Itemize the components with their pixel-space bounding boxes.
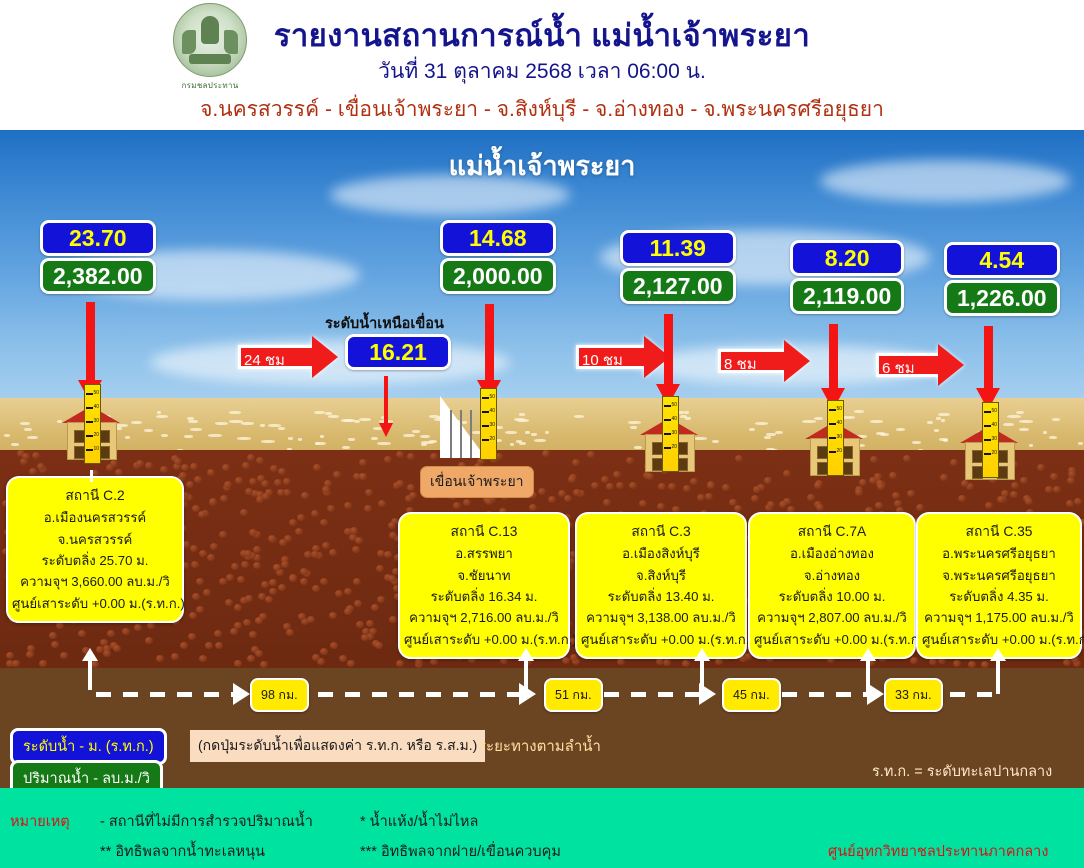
upstream-level-label: ระดับน้ำเหนือเขื่อน: [325, 312, 444, 335]
station-datum: ศูนย์เสาระดับ +0.00 ม.(ร.ท.ก.): [404, 629, 564, 650]
station-district: อ.เมืองนครสวรรค์: [12, 507, 178, 528]
water-level-value[interactable]: 11.39: [620, 230, 736, 266]
water-volume-value[interactable]: 2,119.00: [790, 278, 904, 314]
level-pointer-arrow: [829, 324, 838, 390]
report-footer: หมายเหตุ - สถานีที่ไม่มีการสำรวจปริมาณน้…: [0, 788, 1084, 868]
station-capacity: ความจุฯ 1,175.00 ลบ.ม./วิ: [922, 607, 1076, 628]
distance-along-river-label: ระยะทางตามลำน้ำ: [478, 734, 601, 758]
dam-name-label[interactable]: เขื่อนเจ้าพระยา: [420, 466, 534, 498]
level-pointer-arrow: [984, 326, 993, 390]
station-values-c3: 11.39 2,127.00: [620, 230, 736, 304]
distance-tick-c7a: [866, 660, 870, 694]
staff-gauge-icon-c2: 5040 3020 10: [84, 384, 101, 464]
station-capacity: ความจุฯ 2,716.00 ลบ.ม./วิ: [404, 607, 564, 628]
distance-dash-5: [950, 692, 998, 697]
distance-dash-1: [96, 692, 234, 697]
report-header: กรมชลประทาน รายงานสถานการณ์น้ำ แม่น้ำเจ้…: [0, 0, 1084, 130]
station-bank-level: ระดับตลิ่ง 16.34 ม.: [404, 586, 564, 607]
upstream-level-value[interactable]: 16.21: [345, 334, 451, 370]
distance-tick-c35: [996, 660, 1000, 694]
staff-gauge-icon-c35: 5040 3020: [982, 402, 999, 478]
issuing-office: ศูนย์อุทกวิทยาชลประทานภาคกลาง: [828, 840, 1048, 863]
report-route: จ.นครสวรรค์ - เขื่อนเจ้าพระยา - จ.สิงห์บ…: [0, 93, 1084, 126]
note-line-4: *** อิทธิพลจากฝาย/เขื่อนควบคุม: [360, 840, 561, 863]
station-district: อ.พระนครศรีอยุธยา: [922, 543, 1076, 564]
note-line-2: * น้ำแห้ง/น้ำไม่ไหล: [360, 810, 478, 833]
station-values-c2: 23.70 2,382.00: [40, 220, 156, 294]
water-volume-value[interactable]: 2,382.00: [40, 258, 156, 294]
station-province: จ.สิงห์บุรี: [581, 565, 741, 586]
travel-time-label: 10 ชม: [582, 348, 623, 372]
station-code: สถานี C.35: [922, 521, 1076, 543]
station-datum: ศูนย์เสาระดับ +0.00 ม.(ร.ท.ก.): [754, 629, 910, 650]
staff-gauge-icon-c3: 5040 3020: [662, 396, 679, 472]
station-bank-level: ระดับตลิ่ง 13.40 ม.: [581, 586, 741, 607]
legend-volume-key[interactable]: ปริมาณน้ำ - ลบ.ม./วิ: [10, 760, 163, 788]
distance-dash-3: [604, 692, 700, 697]
page-title: รายงานสถานการณ์น้ำ แม่น้ำเจ้าพระยา: [0, 10, 1084, 60]
distance-tick-c2: [88, 660, 92, 690]
info-stem: [90, 470, 93, 482]
station-values-c35: 4.54 1,226.00: [944, 242, 1060, 316]
station-bank-level: ระดับตลิ่ง 25.70 ม.: [12, 550, 178, 571]
travel-time-label: 24 ชม: [244, 348, 285, 372]
distance-value-3[interactable]: 45 กม.: [722, 678, 781, 712]
station-info-c3: สถานี C.3 อ.เมืองสิงห์บุรี จ.สิงห์บุรี ร…: [575, 512, 747, 659]
legend-hint: (กดปุ่มระดับน้ำเพื่อแสดงค่า ร.ท.ก. หรือ …: [190, 730, 485, 762]
water-level-value[interactable]: 14.68: [440, 220, 556, 256]
station-values-c13: 14.68 2,000.00: [440, 220, 556, 294]
distance-dash-4: [782, 692, 868, 697]
staff-gauge-icon-c7a: 5040 3020: [827, 400, 844, 476]
report-datetime: วันที่ 31 ตุลาคม 2568 เวลา 06:00 น.: [0, 55, 1084, 88]
river-name-label: แม่น้ำเจ้าพระยา: [0, 144, 1084, 187]
note-line-1: - สถานีที่ไม่มีการสำรวจปริมาณน้ำ: [100, 810, 313, 833]
station-datum: ศูนย์เสาระดับ +0.00 ม.(ร.ท.ก.): [12, 593, 178, 614]
travel-time-arrow-4: 6 ชม: [876, 344, 962, 386]
station-code: สถานี C.2: [12, 485, 178, 507]
notes-heading: หมายเหตุ: [10, 810, 70, 833]
travel-time-arrow-2: 10 ชม: [576, 336, 668, 378]
level-pointer-arrow: [664, 314, 673, 386]
station-capacity: ความจุฯ 3,138.00 ลบ.ม./วิ: [581, 607, 741, 628]
water-situation-report: กรมชลประทาน รายงานสถานการณ์น้ำ แม่น้ำเจ้…: [0, 0, 1084, 868]
station-province: จ.พระนครศรีอยุธยา: [922, 565, 1076, 586]
water-level-value[interactable]: 4.54: [944, 242, 1060, 278]
station-province: จ.นครสวรรค์: [12, 529, 178, 550]
station-capacity: ความจุฯ 3,660.00 ลบ.ม./วิ: [12, 571, 178, 592]
station-bank-level: ระดับตลิ่ง 10.00 ม.: [754, 586, 910, 607]
station-district: อ.เมืองสิงห์บุรี: [581, 543, 741, 564]
station-district: อ.สรรพยา: [404, 543, 564, 564]
distance-tick-c3: [700, 660, 704, 694]
station-values-c7a: 8.20 2,119.00: [790, 240, 904, 314]
note-line-3: ** อิทธิพลจากน้ำทะเลหนุน: [100, 840, 265, 863]
station-code: สถานี C.3: [581, 521, 741, 543]
station-info-c7a: สถานี C.7A อ.เมืองอ่างทอง จ.อ่างทอง ระดั…: [748, 512, 916, 659]
station-province: จ.ชัยนาท: [404, 565, 564, 586]
station-datum: ศูนย์เสาระดับ +0.00 ม.(ร.ท.ก.): [922, 629, 1076, 650]
station-info-c2: สถานี C.2 อ.เมืองนครสวรรค์ จ.นครสวรรค์ ร…: [6, 476, 184, 623]
travel-time-label: 8 ชม: [724, 352, 757, 376]
station-code: สถานี C.13: [404, 521, 564, 543]
level-pointer-arrow: [86, 302, 95, 382]
station-capacity: ความจุฯ 2,807.00 ลบ.ม./วิ: [754, 607, 910, 628]
station-datum: ศูนย์เสาระดับ +0.00 ม.(ร.ท.ก.): [581, 629, 741, 650]
station-info-c13: สถานี C.13 อ.สรรพยา จ.ชัยนาท ระดับตลิ่ง …: [398, 512, 570, 659]
station-bank-level: ระดับตลิ่ง 4.35 ม.: [922, 586, 1076, 607]
travel-time-arrow-1: 24 ชม: [238, 336, 338, 378]
water-level-value[interactable]: 23.70: [40, 220, 156, 256]
distance-value-4[interactable]: 33 กม.: [884, 678, 943, 712]
station-district: อ.เมืองอ่างทอง: [754, 543, 910, 564]
water-level-value[interactable]: 8.20: [790, 240, 904, 276]
travel-time-label: 6 ชม: [882, 356, 915, 380]
station-info-c35: สถานี C.35 อ.พระนครศรีอยุธยา จ.พระนครศรี…: [916, 512, 1082, 659]
msl-note: ร.ท.ก. = ระดับทะเลปานกลาง: [872, 760, 1052, 783]
sandbank: [0, 398, 1084, 458]
river-diagram: แม่น้ำเจ้าพระยา 23.70 2,382.00 5040 3020…: [0, 130, 1084, 788]
distance-value-1[interactable]: 98 กม.: [250, 678, 309, 712]
water-volume-value[interactable]: 1,226.00: [944, 280, 1060, 316]
water-volume-value[interactable]: 2,127.00: [620, 268, 736, 304]
station-code: สถานี C.7A: [754, 521, 910, 543]
travel-time-arrow-3: 8 ชม: [718, 340, 808, 382]
water-volume-value[interactable]: 2,000.00: [440, 258, 556, 294]
station-province: จ.อ่างทอง: [754, 565, 910, 586]
upstream-pointer-arrow: [384, 376, 388, 424]
staff-gauge-icon-c13: 5040 3020: [480, 388, 497, 460]
distance-dash-2: [318, 692, 520, 697]
distance-value-2[interactable]: 51 กม.: [544, 678, 603, 712]
level-pointer-arrow: [485, 304, 494, 382]
distance-tick-c13: [524, 660, 528, 694]
